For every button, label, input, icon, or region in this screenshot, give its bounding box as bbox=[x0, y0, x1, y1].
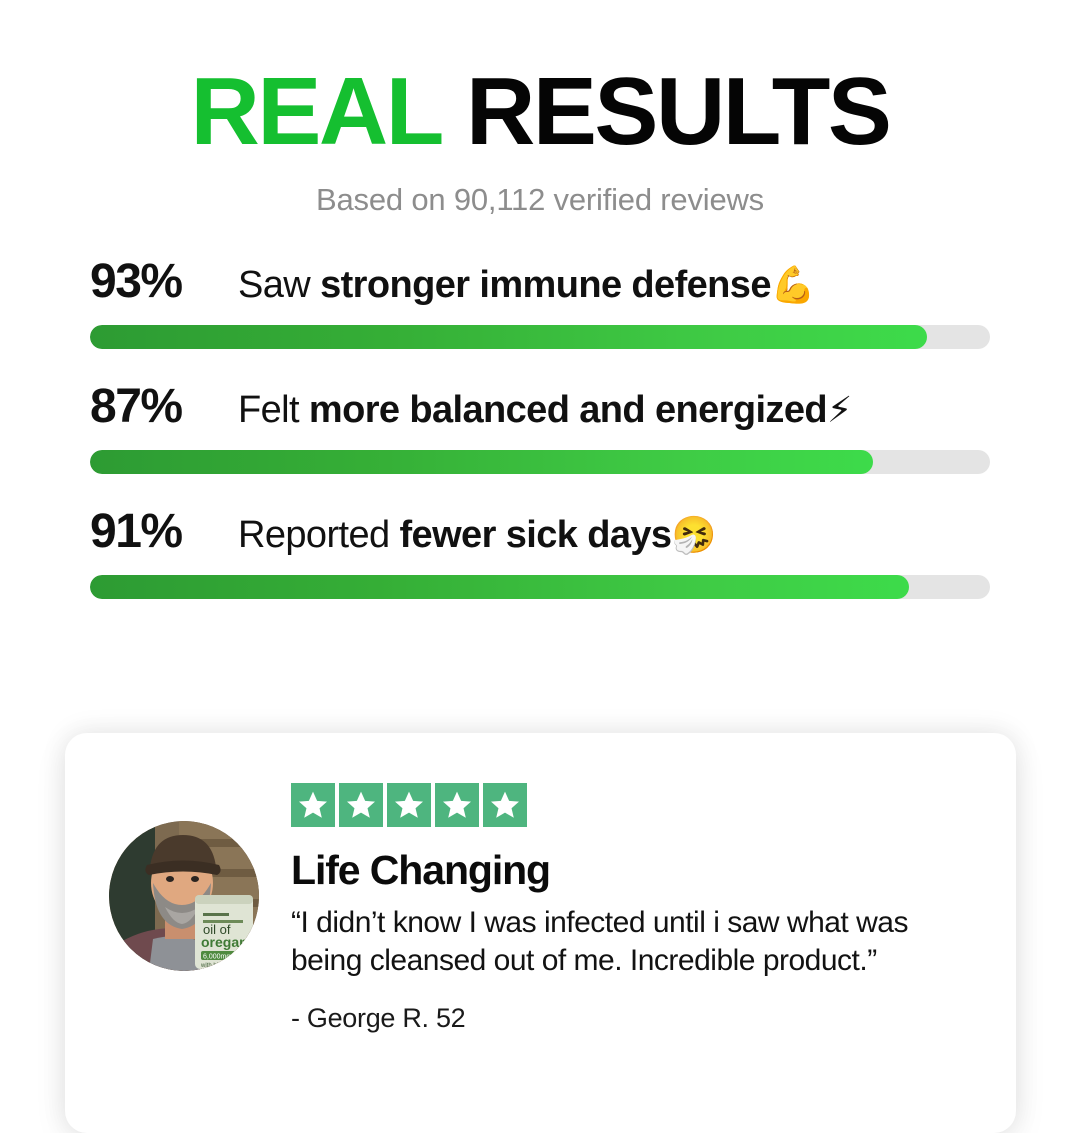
stat-row: 91% Reported fewer sick days🤧 bbox=[90, 504, 990, 599]
avatar-photo-icon: oil of oregano 6,000mg with black seed bbox=[109, 821, 259, 971]
stat-line: 87% Felt more balanced and energized⚡ bbox=[90, 379, 990, 434]
headline-dark-word: RESULTS bbox=[466, 58, 889, 165]
progress-fill bbox=[90, 450, 873, 474]
progress-fill bbox=[90, 575, 909, 599]
header: REAL RESULTS Based on 90,112 verified re… bbox=[0, 0, 1080, 218]
star-icon bbox=[483, 783, 527, 827]
review-count-subtitle: Based on 90,112 verified reviews bbox=[0, 182, 1080, 218]
stat-percent: 93% bbox=[90, 254, 218, 309]
star-icon bbox=[435, 783, 479, 827]
star-icon bbox=[387, 783, 431, 827]
stat-percent: 87% bbox=[90, 379, 218, 434]
stat-bold-text: fewer sick days bbox=[399, 514, 671, 556]
review-quote: “I didn’t know I was infected until i sa… bbox=[291, 904, 941, 981]
star-icon bbox=[291, 783, 335, 827]
product-pouch-icon: oil of oregano 6,000mg with black seed bbox=[195, 895, 256, 969]
review-author: - George R. 52 bbox=[291, 1003, 976, 1034]
stat-lead-text: Felt bbox=[238, 389, 309, 431]
stat-description: Saw stronger immune defense💪 bbox=[238, 264, 815, 307]
stat-description: Reported fewer sick days🤧 bbox=[238, 514, 716, 557]
stats-list: 93% Saw stronger immune defense💪 87% Fel… bbox=[0, 254, 1080, 599]
flexed-biceps-emoji: 💪 bbox=[771, 264, 815, 305]
stat-line: 91% Reported fewer sick days🤧 bbox=[90, 504, 990, 559]
star-rating bbox=[291, 783, 976, 827]
review-body: Life Changing “I didn’t know I was infec… bbox=[291, 781, 976, 1133]
stat-row: 87% Felt more balanced and energized⚡ bbox=[90, 379, 990, 474]
stat-bold-text: stronger immune defense bbox=[320, 264, 771, 306]
stat-row: 93% Saw stronger immune defense💪 bbox=[90, 254, 990, 349]
review-title: Life Changing bbox=[291, 847, 976, 894]
stat-description: Felt more balanced and energized⚡ bbox=[238, 389, 852, 432]
progress-track bbox=[90, 450, 990, 474]
svg-text:with black seed: with black seed bbox=[200, 963, 242, 969]
stat-lead-text: Reported bbox=[238, 514, 399, 556]
high-voltage-emoji: ⚡ bbox=[827, 389, 852, 430]
stat-lead-text: Saw bbox=[238, 264, 320, 306]
progress-fill bbox=[90, 325, 927, 349]
progress-track bbox=[90, 575, 990, 599]
star-icon bbox=[339, 783, 383, 827]
review-card: oil of oregano 6,000mg with black seed L… bbox=[65, 733, 1016, 1133]
page-title: REAL RESULTS bbox=[0, 64, 1080, 160]
headline-green-word: REAL bbox=[191, 58, 442, 165]
svg-text:oregano: oregano bbox=[201, 934, 256, 950]
stat-percent: 91% bbox=[90, 504, 218, 559]
svg-text:6,000mg: 6,000mg bbox=[203, 954, 230, 961]
progress-track bbox=[90, 325, 990, 349]
stat-line: 93% Saw stronger immune defense💪 bbox=[90, 254, 990, 309]
sneezing-face-emoji: 🤧 bbox=[671, 514, 715, 555]
avatar: oil of oregano 6,000mg with black seed bbox=[109, 821, 259, 971]
stat-bold-text: more balanced and energized bbox=[309, 389, 827, 431]
